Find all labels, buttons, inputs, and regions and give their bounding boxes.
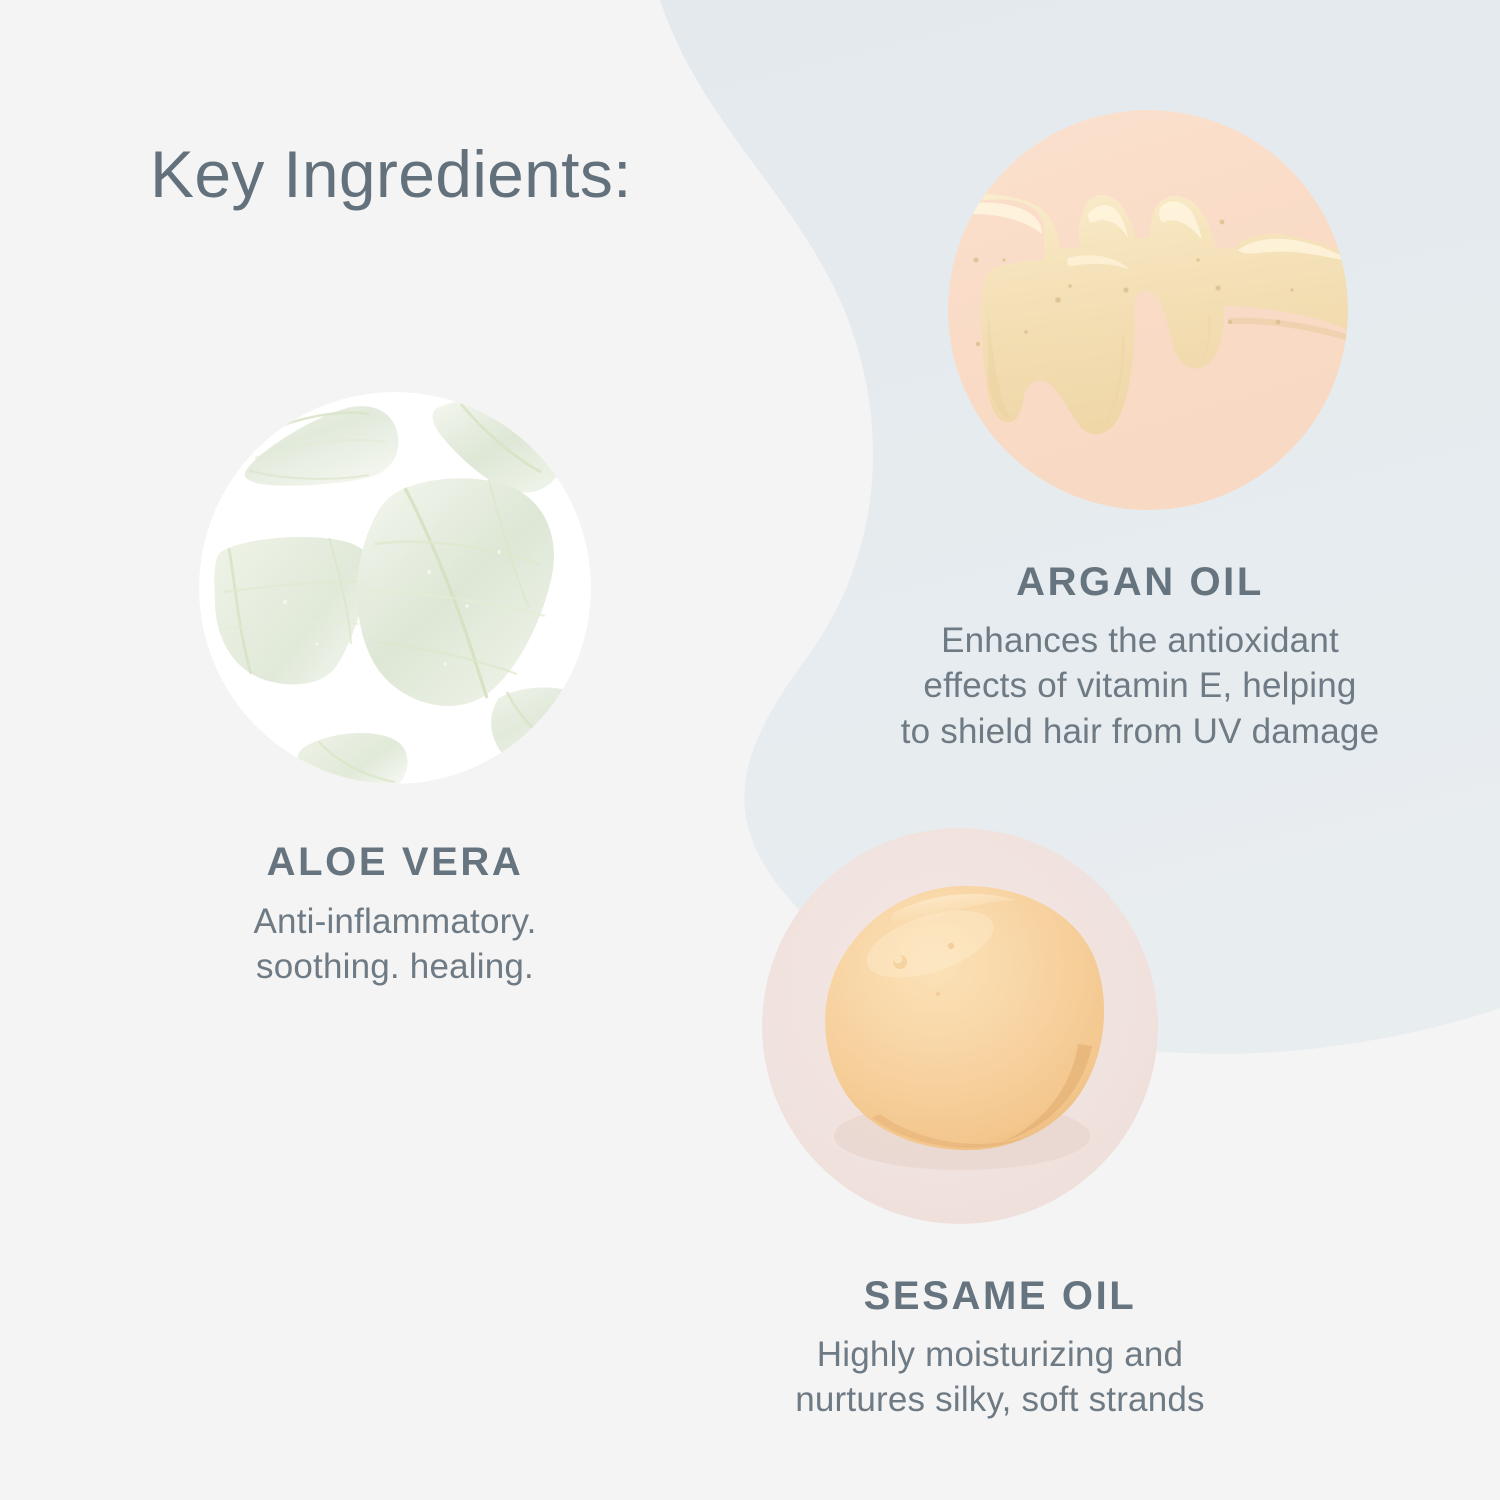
ingredient-card-argan-oil: ARGAN OIL Enhances the antioxidant effec… — [840, 110, 1440, 754]
desc-line: Anti-inflammatory. — [150, 899, 640, 945]
desc-line: soothing. healing. — [150, 944, 640, 990]
desc-line: to shield hair from UV damage — [840, 709, 1440, 755]
argan-oil-image — [948, 110, 1348, 510]
ingredient-description-aloe-vera: Anti-inflammatory. soothing. healing. — [150, 899, 640, 990]
desc-line: Enhances the antioxidant — [840, 618, 1440, 664]
desc-line: nurtures silky, soft strands — [700, 1377, 1300, 1423]
ingredient-name-sesame-oil: SESAME OIL — [700, 1274, 1300, 1319]
aloe-vera-image — [199, 392, 591, 784]
key-ingredients-infographic: Key Ingredients: — [0, 0, 1500, 1500]
ingredient-card-sesame-oil: SESAME OIL Highly moisturizing and nurtu… — [700, 828, 1300, 1423]
ingredient-name-aloe-vera: ALOE VERA — [150, 840, 640, 885]
sesame-oil-image — [762, 828, 1158, 1224]
desc-line: Highly moisturizing and — [700, 1332, 1300, 1378]
page-title: Key Ingredients: — [150, 138, 632, 211]
ingredient-description-sesame-oil: Highly moisturizing and nurtures silky, … — [700, 1332, 1300, 1423]
ingredient-description-argan-oil: Enhances the antioxidant effects of vita… — [840, 618, 1440, 755]
ingredient-name-argan-oil: ARGAN OIL — [840, 560, 1440, 605]
ingredient-card-aloe-vera: ALOE VERA Anti-inflammatory. soothing. h… — [150, 392, 640, 990]
desc-line: effects of vitamin E, helping — [840, 663, 1440, 709]
